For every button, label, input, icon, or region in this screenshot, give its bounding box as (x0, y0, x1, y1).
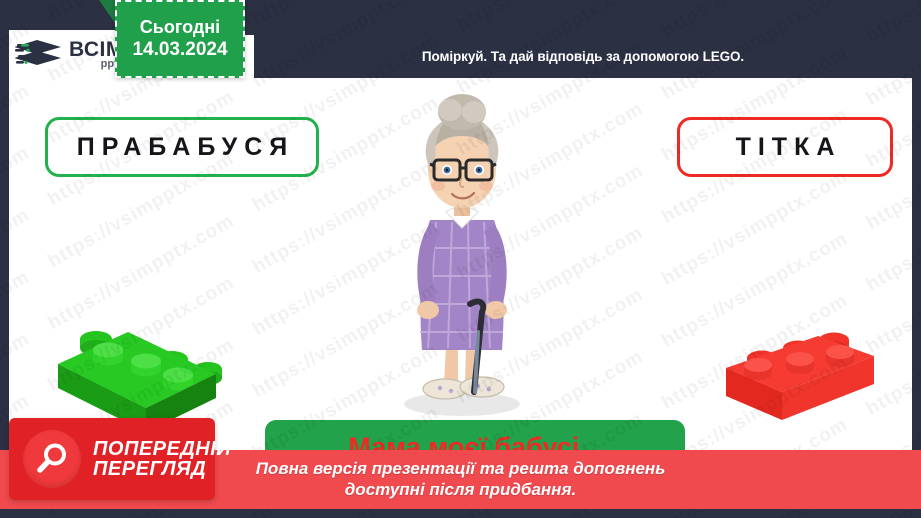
elderly-woman-with-cane-illustration (378, 92, 543, 427)
choice-left-label: ПРАБАБУСЯ (70, 133, 295, 162)
date-badge: Сьогодні 14.03.2024 (115, 0, 245, 78)
slide-canvas: ПРАБАБУСЯ ТІТКА Мама моєї бабусі... Помі… (0, 0, 921, 518)
date-badge-date: 14.03.2024 (132, 38, 227, 62)
right-frame-strip (912, 0, 921, 518)
left-frame-strip (0, 0, 9, 518)
lego-brick-green (50, 322, 222, 427)
lego-brick-red (710, 328, 880, 433)
choice-left[interactable]: ПРАБАБУСЯ (45, 117, 319, 177)
preview-badge: ПОПЕРЕДНІЙ ПЕРЕГЛЯД (9, 418, 215, 500)
magnifier-icon (23, 430, 81, 488)
page-title: Поміркуй. Та дай відповідь за допомогою … (422, 49, 744, 64)
date-badge-label: Сьогодні (140, 16, 220, 39)
header-title-bar: Поміркуй. Та дай відповідь за допомогою … (254, 34, 912, 78)
purchase-notice-line1: Повна версія презентації та решта доповн… (256, 459, 666, 480)
bottom-frame-strip (0, 509, 921, 518)
preview-badge-line1: ПОПЕРЕДНІЙ (93, 439, 231, 459)
preview-badge-line2: ПЕРЕГЛЯД (93, 459, 231, 479)
choice-right[interactable]: ТІТКА (677, 117, 893, 177)
purchase-notice-line2: доступні після придбання. (345, 480, 576, 501)
graduation-cap-icon (15, 36, 67, 72)
choice-right-label: ТІТКА (729, 133, 842, 162)
preview-badge-text: ПОПЕРЕДНІЙ ПЕРЕГЛЯД (93, 439, 231, 480)
